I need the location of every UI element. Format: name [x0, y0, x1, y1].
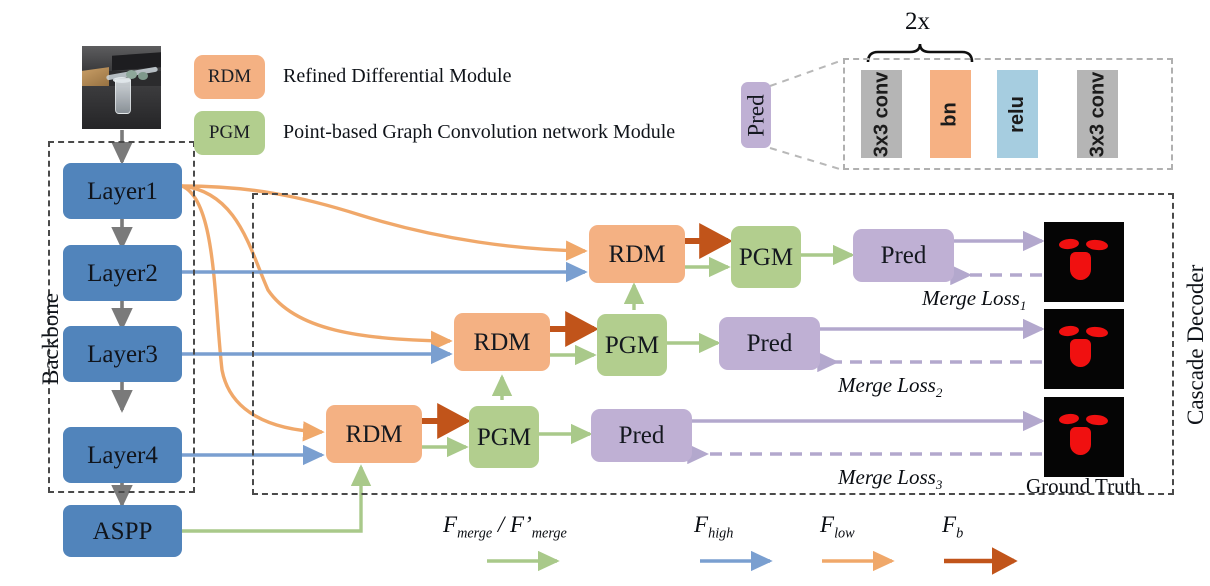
flow-legend-label-merge: Fmerge / F’merge: [443, 512, 567, 543]
pred-box-stage1[interactable]: Pred: [853, 229, 954, 282]
rdm-box-stage3[interactable]: RDM: [326, 405, 422, 463]
ground-truth-mask-2: [1044, 309, 1124, 389]
flow-legend-label-low: Flow: [820, 512, 855, 543]
merge-loss-label-1: Merge Loss1: [922, 286, 1026, 314]
pred-detail-source-label: Pred: [745, 94, 768, 136]
pred-detail-source-box: Pred: [741, 82, 771, 148]
layer4-box[interactable]: Layer4: [63, 427, 182, 483]
rdm-box-stage2[interactable]: RDM: [454, 313, 550, 371]
merge-loss-text-2: Merge Loss: [838, 373, 936, 397]
legend-text-rdm: Refined Differential Module: [283, 65, 511, 88]
figure-canvas: Backbone Layer1 Layer2 Layer3 Layer4 ASP…: [0, 0, 1210, 586]
pred-detail-block-bn-label: bn: [939, 102, 962, 126]
input-image-thumbnail: [82, 46, 161, 129]
merge-loss-label-3: Merge Loss3: [838, 465, 942, 493]
layer2-box[interactable]: Layer2: [63, 245, 182, 301]
pred-detail-block-conv2: 3x3 conv: [1077, 70, 1118, 158]
legend-text-pgm: Point-based Graph Convolution network Mo…: [283, 121, 675, 144]
merge-loss-index-2: 2: [936, 385, 943, 400]
ground-truth-mask-1: [1044, 222, 1124, 302]
backbone-label: Backbone: [38, 293, 64, 385]
pgm-box-stage1[interactable]: PGM: [731, 226, 801, 288]
pred-detail-block-relu-label: relu: [1006, 96, 1029, 133]
merge-loss-text-3: Merge Loss: [838, 465, 936, 489]
aspp-box[interactable]: ASPP: [63, 505, 182, 557]
pred-detail-block-relu: relu: [997, 70, 1038, 158]
pred-detail-block-conv2-label: 3x3 conv: [1086, 71, 1109, 157]
merge-loss-index-1: 1: [1020, 298, 1027, 313]
legend-swatch-pgm: PGM: [194, 111, 265, 155]
flow-legend-label-high: Fhigh: [694, 512, 733, 543]
pred-detail-block-conv1-label: 3x3 conv: [870, 71, 893, 157]
pgm-box-stage3[interactable]: PGM: [469, 406, 539, 468]
cascade-decoder-label: Cascade Decoder: [1183, 265, 1209, 425]
layer3-box[interactable]: Layer3: [63, 326, 182, 382]
pred-detail-repeat-label: 2x: [905, 8, 930, 36]
legend-swatch-rdm: RDM: [194, 55, 265, 99]
pred-detail-block-bn: bn: [930, 70, 971, 158]
rdm-box-stage1[interactable]: RDM: [589, 225, 685, 283]
merge-loss-text-1: Merge Loss: [922, 286, 1020, 310]
pred-box-stage3[interactable]: Pred: [591, 409, 692, 462]
pred-box-stage2[interactable]: Pred: [719, 317, 820, 370]
ground-truth-mask-3: [1044, 397, 1124, 477]
pred-detail-block-conv1: 3x3 conv: [861, 70, 902, 158]
flow-legend-label-b: Fb: [942, 512, 963, 543]
merge-loss-label-2: Merge Loss2: [838, 373, 942, 401]
pgm-box-stage2[interactable]: PGM: [597, 314, 667, 376]
layer1-box[interactable]: Layer1: [63, 163, 182, 219]
ground-truth-caption: Ground Truth: [1026, 474, 1141, 499]
merge-loss-index-3: 3: [936, 477, 943, 492]
